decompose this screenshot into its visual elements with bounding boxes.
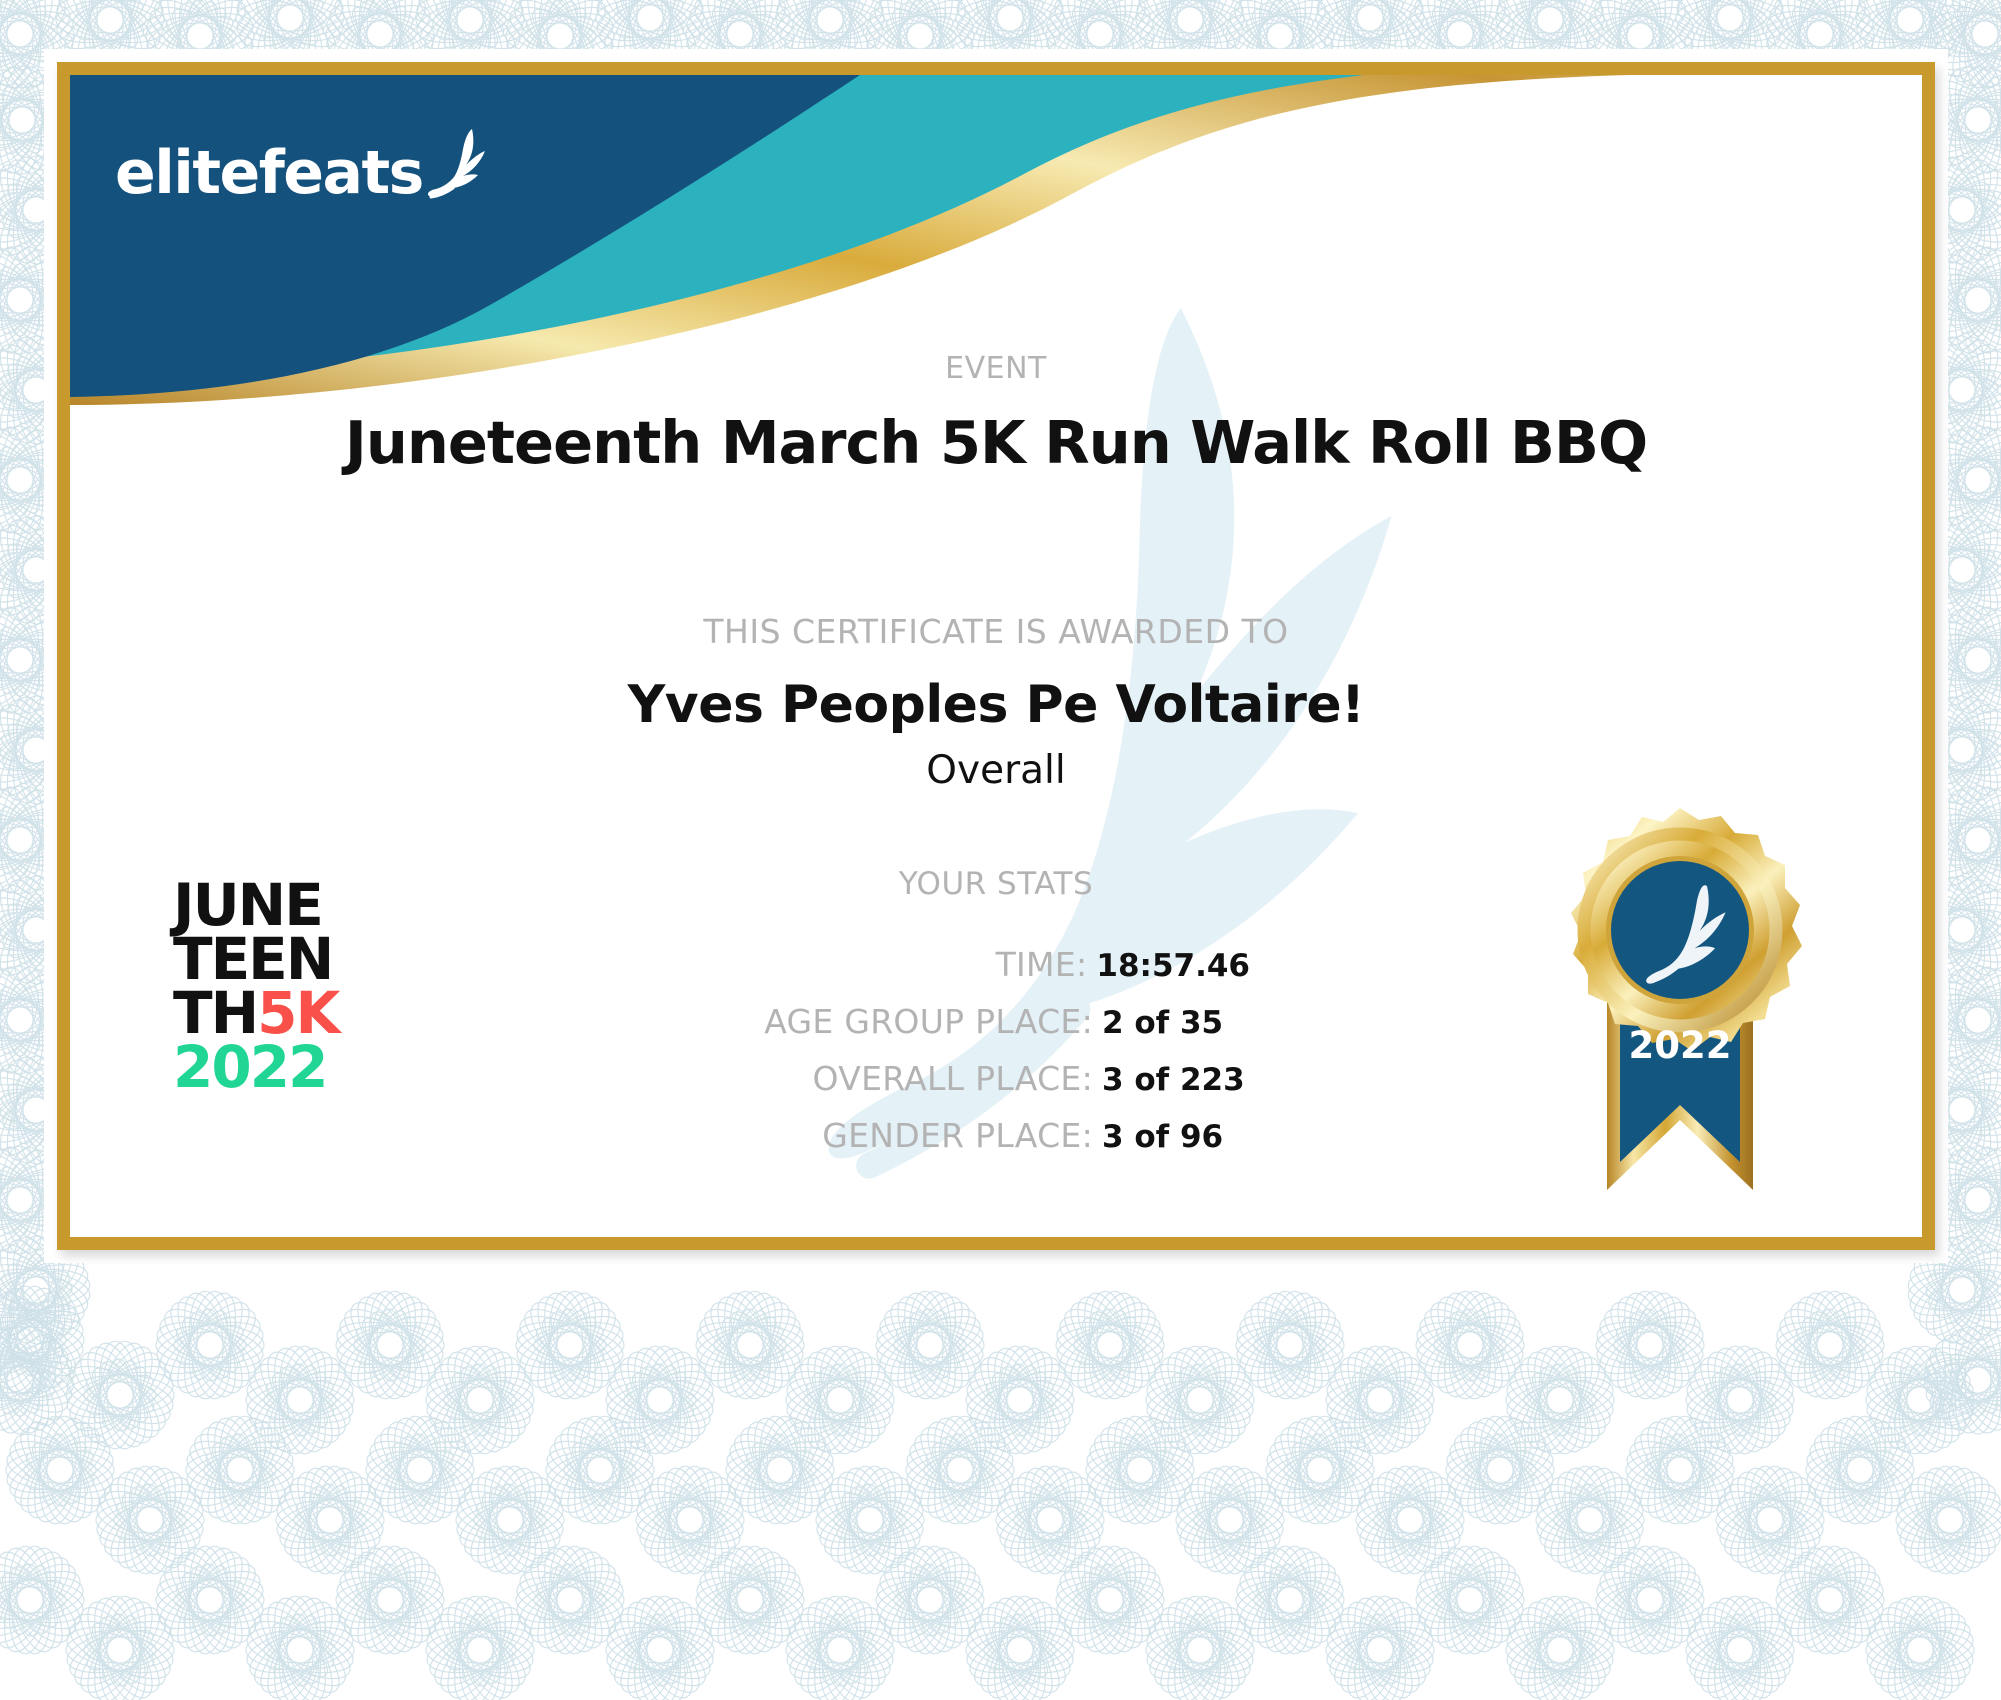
stat-label-gender-place: GENDER PLACE: <box>822 1116 1093 1155</box>
stat-row-overall-place: OVERALL PLACE: 3 of 223 <box>460 1059 1250 1116</box>
juneteenth-5k-logo: JUNE TEEN TH5K 2022 <box>173 879 413 1095</box>
stat-value-gender-place: 3 of 96 <box>1102 1119 1250 1155</box>
event-label: EVENT <box>70 351 1922 386</box>
stat-label-overall-place: OVERALL PLACE: <box>813 1059 1094 1098</box>
awarded-to-label: THIS CERTIFICATE IS AWARDED TO <box>70 612 1922 651</box>
stat-label-age-group-place: AGE GROUP PLACE: <box>764 1002 1093 1041</box>
winged-foot-icon <box>425 127 487 203</box>
stat-row-age-group-place: AGE GROUP PLACE: 2 of 35 <box>460 1002 1250 1059</box>
stat-value-overall-place: 3 of 223 <box>1102 1062 1250 1098</box>
recipient-division: Overall <box>70 748 1922 793</box>
medal-caption: FINISHER CERTIFICATE <box>1535 1234 1825 1237</box>
stat-label-time: TIME: <box>996 945 1088 984</box>
juneteenth-logo-year: 2022 <box>173 1041 413 1095</box>
certificate-page: elitefeats EVENT Juneteenth March 5K Run… <box>0 0 2001 1700</box>
stat-row-time: TIME: 18:57.46 <box>460 945 1250 1002</box>
certificate-frame: elitefeats EVENT Juneteenth March 5K Run… <box>57 62 1935 1250</box>
elitefeats-wordmark: elitefeats <box>115 143 423 203</box>
event-title: Juneteenth March 5K Run Walk Roll BBQ <box>70 408 1922 477</box>
medal-ribbon-year: 2022 <box>1629 1024 1732 1067</box>
recipient-name: Yves Peoples Pe Voltaire! <box>70 675 1922 735</box>
stat-value-age-group-place: 2 of 35 <box>1102 1005 1250 1041</box>
stat-value-time: 18:57.46 <box>1096 948 1250 984</box>
finisher-medal-badge: 2022 FINISHER CERTIFICATE <box>1535 790 1825 1237</box>
stats-list: TIME: 18:57.46 AGE GROUP PLACE: 2 of 35 … <box>460 945 1250 1173</box>
medal-icon: 2022 <box>1545 790 1815 1230</box>
elitefeats-logo: elitefeats <box>115 127 487 203</box>
medal-caption-line-1: FINISHER <box>1535 1234 1825 1237</box>
stat-row-gender-place: GENDER PLACE: 3 of 96 <box>460 1116 1250 1173</box>
